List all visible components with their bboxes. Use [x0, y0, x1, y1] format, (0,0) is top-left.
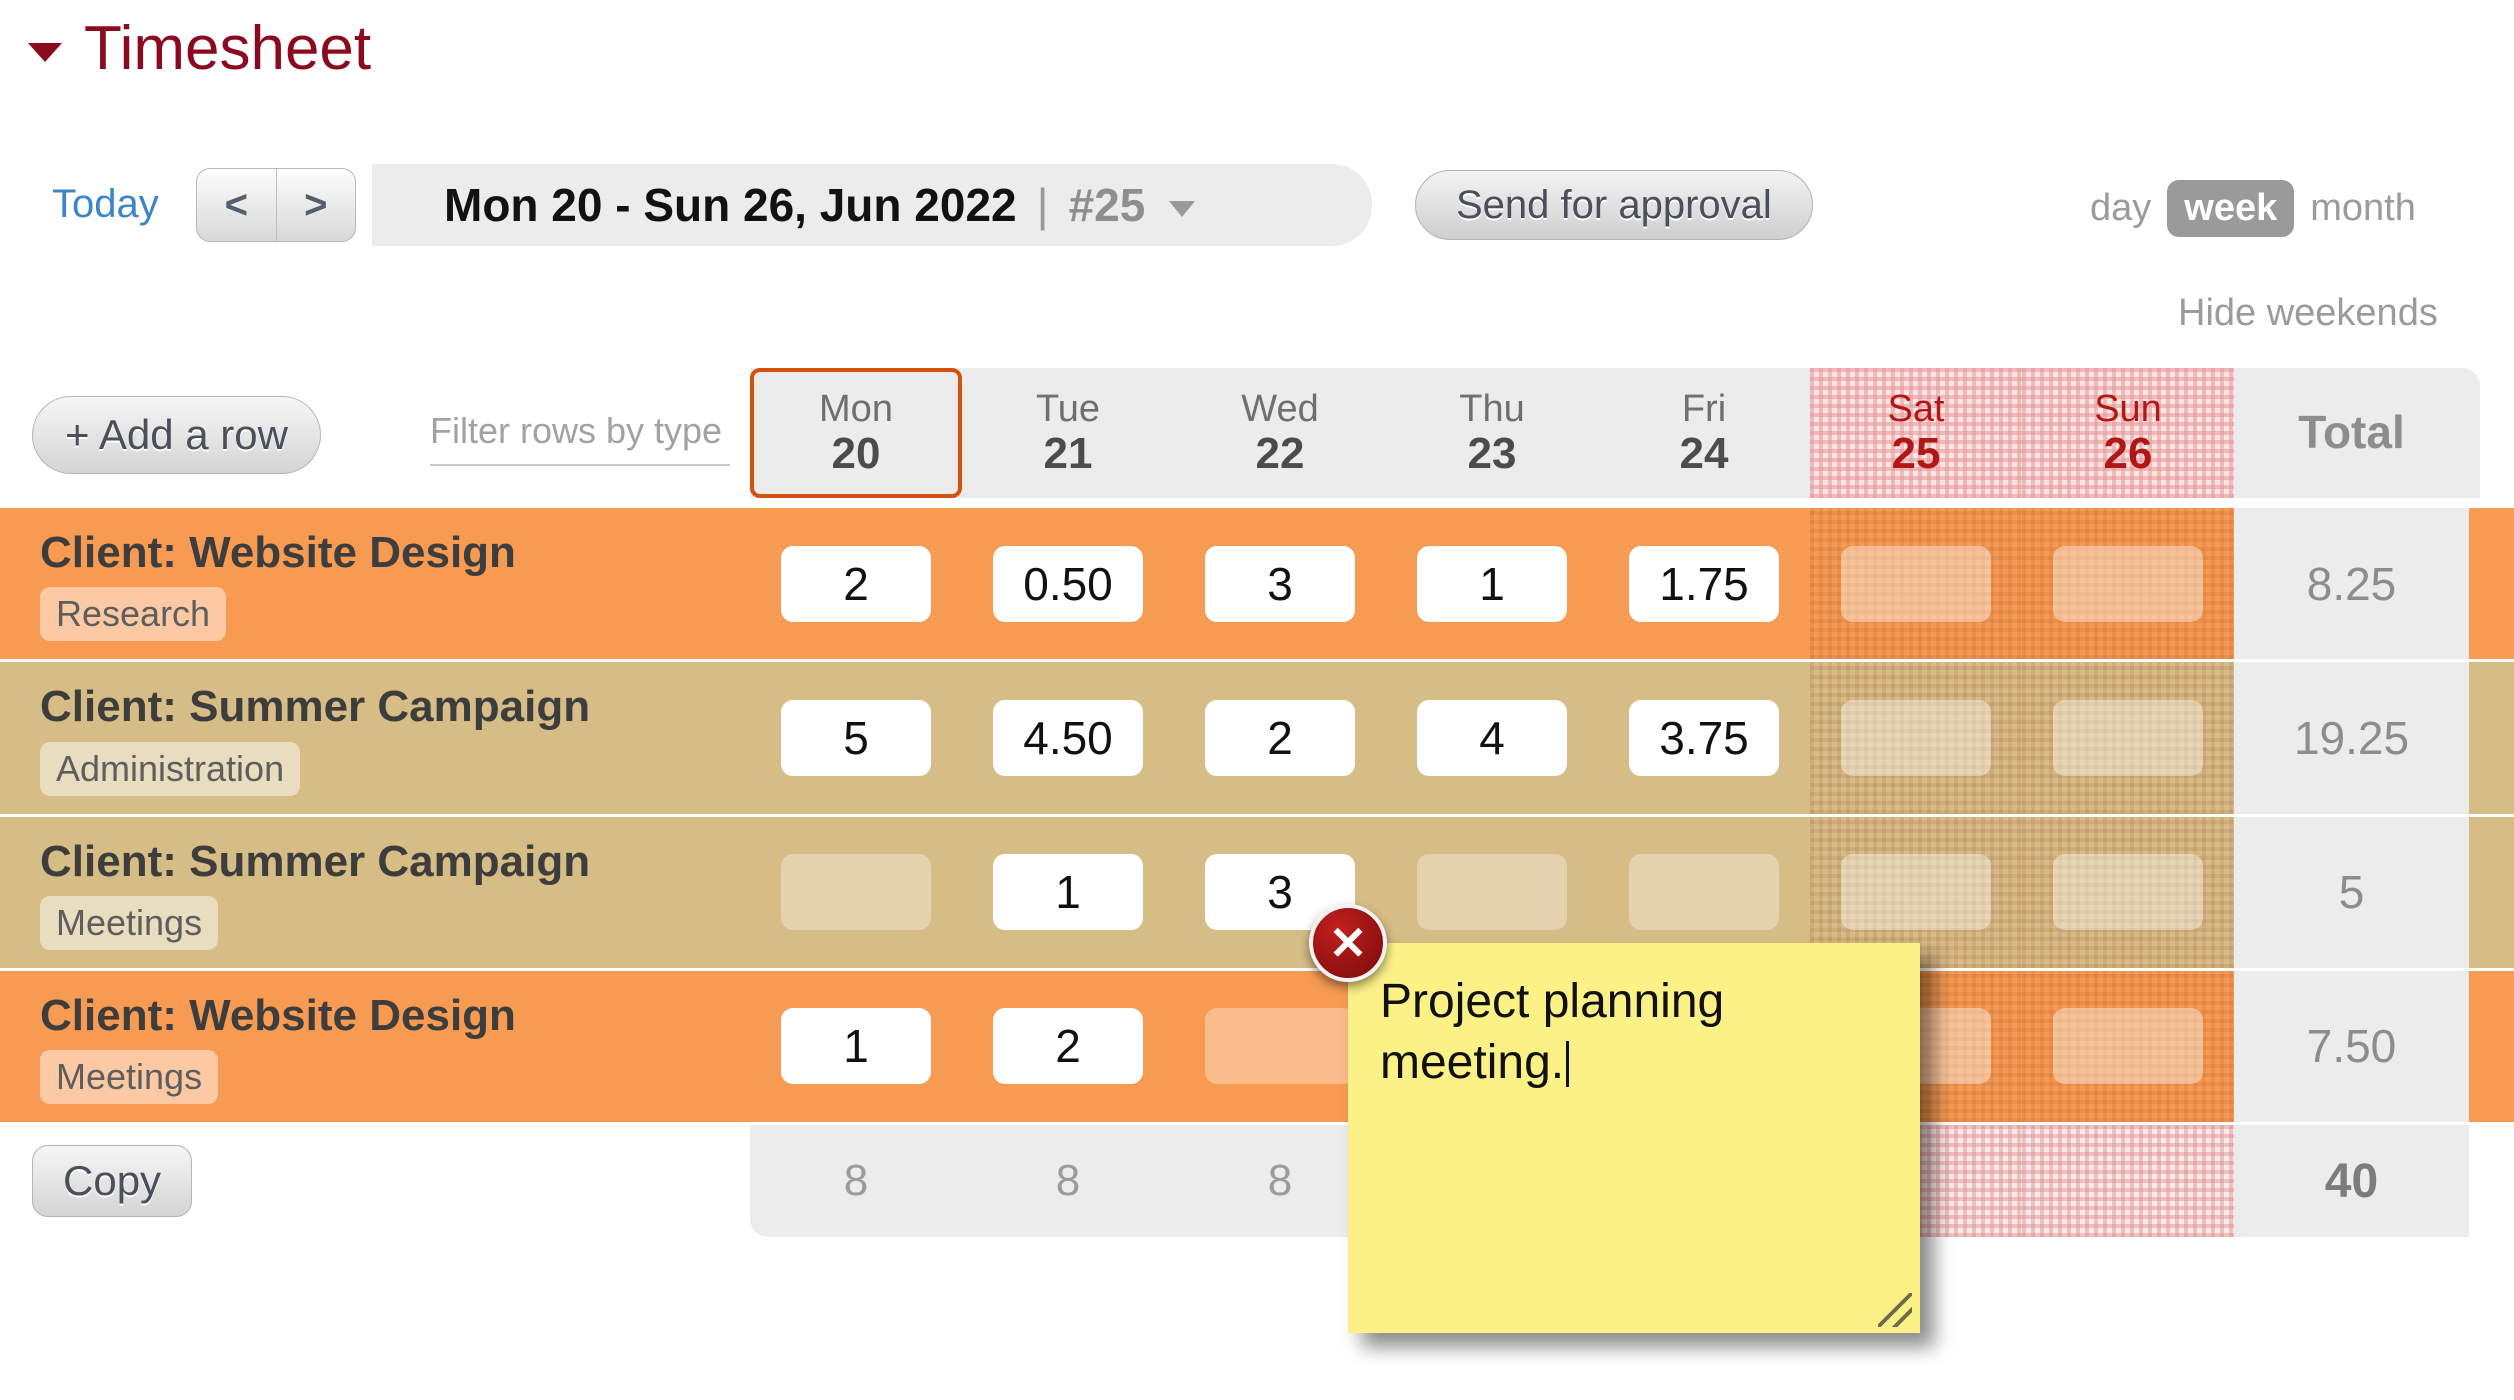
view-mode-week[interactable]: week: [2167, 180, 2294, 237]
hours-input[interactable]: 4.50: [993, 700, 1143, 776]
cell-mon[interactable]: 2: [750, 508, 962, 659]
cell-mon[interactable]: 1: [750, 971, 962, 1122]
cell-sun[interactable]: [2022, 662, 2234, 813]
day-column-header-fri[interactable]: Fri 24: [1598, 368, 1810, 498]
view-mode-day[interactable]: day: [2090, 187, 2151, 230]
day-column-header-sun[interactable]: Sun 26: [2022, 368, 2234, 498]
cell-fri[interactable]: 3.75: [1598, 662, 1810, 813]
cell-fri[interactable]: 1.75: [1598, 508, 1810, 659]
hours-input[interactable]: [2053, 1008, 2203, 1084]
day-date: 24: [1680, 430, 1729, 478]
note-text-value: Project planning meeting.: [1380, 975, 1738, 1089]
grid-header: + Add a row Mon 20 Tue 21 Wed 22 Th: [0, 368, 2514, 508]
day-name: Mon: [819, 389, 893, 430]
day-date: 21: [1044, 430, 1093, 478]
day-name: Wed: [1241, 389, 1318, 430]
copy-button[interactable]: Copy: [32, 1145, 192, 1217]
day-column-header-wed[interactable]: Wed 22: [1174, 368, 1386, 498]
prev-week-button[interactable]: <: [197, 169, 277, 241]
chevron-down-icon[interactable]: [1169, 201, 1195, 217]
day-date: 23: [1468, 430, 1517, 478]
close-icon[interactable]: ✕: [1309, 904, 1387, 982]
row-label[interactable]: Client: Website Design Meetings: [0, 971, 750, 1122]
cell-mon[interactable]: 5: [750, 662, 962, 813]
text-cursor: [1566, 1041, 1569, 1087]
row-cells: 5 4.50 2 4 3.75: [750, 662, 2234, 813]
cell-tue[interactable]: 4.50: [962, 662, 1174, 813]
week-nav-group: < >: [196, 168, 356, 242]
cell-tue[interactable]: 0.50: [962, 508, 1174, 659]
hours-input[interactable]: 2: [993, 1008, 1143, 1084]
row-label[interactable]: Client: Summer Campaign Administration: [0, 662, 750, 813]
day-column-header-mon[interactable]: Mon 20: [750, 368, 962, 498]
row-title: Client: Summer Campaign: [40, 837, 680, 886]
total-label: Total: [2298, 408, 2404, 458]
filter-rows-input[interactable]: [430, 410, 730, 466]
cell-thu[interactable]: 4: [1386, 662, 1598, 813]
day-column-header-sat[interactable]: Sat 25: [1810, 368, 2022, 498]
hours-input[interactable]: 5: [781, 700, 931, 776]
day-name: Sun: [2094, 389, 2162, 430]
cell-sun[interactable]: [2022, 508, 2234, 659]
row-title: Client: Summer Campaign: [40, 682, 680, 731]
hours-input[interactable]: 2: [781, 546, 931, 622]
row-total: 19.25: [2234, 662, 2469, 813]
cell-wed[interactable]: 2: [1174, 662, 1386, 813]
today-button[interactable]: Today: [52, 182, 159, 227]
day-total-tue: 8: [962, 1125, 1174, 1237]
date-range-label: Mon 20 - Sun 26, Jun 2022: [444, 178, 1017, 232]
table-row: Client: Summer Campaign Meetings 1 3 5: [0, 817, 2514, 971]
hours-input[interactable]: 1: [993, 854, 1143, 930]
sticky-note[interactable]: ✕ Project planning meeting.: [1348, 943, 1920, 1333]
day-name: Fri: [1682, 389, 1726, 430]
day-date: 25: [1892, 430, 1941, 478]
hours-input[interactable]: [1841, 546, 1991, 622]
page-title: Timesheet: [84, 18, 371, 80]
cell-thu[interactable]: 1: [1386, 508, 1598, 659]
toolbar: Today < > Mon 20 - Sun 26, Jun 2022 | #2…: [0, 160, 2514, 250]
row-label[interactable]: Client: Summer Campaign Meetings: [0, 817, 750, 968]
date-range-selector[interactable]: Mon 20 - Sun 26, Jun 2022 | #25: [372, 164, 1372, 246]
day-header-strip: Mon 20 Tue 21 Wed 22 Thu 23 Fri 24: [750, 368, 2480, 498]
hours-input[interactable]: 3: [1205, 546, 1355, 622]
send-for-approval-button[interactable]: Send for approval: [1415, 170, 1813, 240]
view-mode-toggle: day week month: [2090, 180, 2416, 237]
footer-label: Copy: [0, 1125, 750, 1237]
row-tag: Meetings: [40, 896, 218, 950]
page-title-row: Timesheet: [28, 18, 371, 80]
total-column-header: Total: [2234, 368, 2469, 498]
next-week-button[interactable]: >: [277, 169, 356, 241]
day-date: 26: [2104, 430, 2153, 478]
day-name: Thu: [1459, 389, 1524, 430]
day-date: 22: [1256, 430, 1305, 478]
table-row: Client: Website Design Research 2 0.50 3…: [0, 508, 2514, 662]
day-column-header-tue[interactable]: Tue 21: [962, 368, 1174, 498]
grand-total: 40: [2234, 1125, 2469, 1237]
grid-footer: Copy 8 8 8 40: [0, 1125, 2514, 1237]
cell-tue[interactable]: 1: [962, 817, 1174, 968]
week-number-label: #25: [1069, 178, 1146, 232]
hours-input[interactable]: [2053, 854, 2203, 930]
cell-sat[interactable]: [1810, 662, 2022, 813]
row-cells: 2 0.50 3 1 1.75: [750, 508, 2234, 659]
hours-input[interactable]: 4: [1417, 700, 1567, 776]
row-total: 7.50: [2234, 971, 2469, 1122]
row-title: Client: Website Design: [40, 991, 680, 1040]
view-mode-month[interactable]: month: [2310, 187, 2416, 230]
day-total-mon: 8: [750, 1125, 962, 1237]
row-total: 5: [2234, 817, 2469, 968]
hours-input[interactable]: [2053, 700, 2203, 776]
hours-input[interactable]: 3.75: [1629, 700, 1779, 776]
hours-input[interactable]: [1417, 854, 1567, 930]
cell-wed[interactable]: 3: [1174, 508, 1386, 659]
row-tag: Research: [40, 587, 226, 641]
date-range-separator: |: [1037, 178, 1049, 232]
hours-input[interactable]: 1: [1417, 546, 1567, 622]
row-total: 8.25: [2234, 508, 2469, 659]
row-tag: Administration: [40, 742, 300, 796]
hours-input[interactable]: 0.50: [993, 546, 1143, 622]
resize-handle-icon[interactable]: [1878, 1293, 1912, 1327]
timesheet-grid: + Add a row Mon 20 Tue 21 Wed 22 Th: [0, 368, 2514, 1237]
hide-weekends-button[interactable]: Hide weekends: [2178, 292, 2438, 335]
day-name: Tue: [1036, 389, 1100, 430]
day-name: Sat: [1887, 389, 1944, 430]
add-row-button[interactable]: + Add a row: [32, 396, 321, 474]
row-title: Client: Website Design: [40, 528, 680, 577]
cell-sat[interactable]: [1810, 508, 2022, 659]
day-total-sun: [2022, 1125, 2234, 1237]
cell-sun[interactable]: [2022, 817, 2234, 968]
timesheet-page: Timesheet Today < > Mon 20 - Sun 26, Jun…: [0, 0, 2514, 1400]
row-tag: Meetings: [40, 1050, 218, 1104]
hours-input[interactable]: 1.75: [1629, 546, 1779, 622]
hours-input[interactable]: [1629, 854, 1779, 930]
day-column-header-thu[interactable]: Thu 23: [1386, 368, 1598, 498]
hours-input[interactable]: [1205, 1008, 1355, 1084]
cell-sun[interactable]: [2022, 971, 2234, 1122]
table-row: Client: Summer Campaign Administration 5…: [0, 662, 2514, 816]
hours-input[interactable]: 2: [1205, 700, 1355, 776]
hours-input[interactable]: [1841, 700, 1991, 776]
note-textarea[interactable]: Project planning meeting.: [1348, 943, 1920, 1094]
filter-rows-wrapper: [430, 410, 730, 466]
row-label[interactable]: Client: Website Design Research: [0, 508, 750, 659]
day-date: 20: [832, 430, 881, 478]
hours-input[interactable]: [781, 854, 931, 930]
collapse-caret-icon[interactable]: [28, 43, 62, 62]
hours-input[interactable]: [1841, 854, 1991, 930]
cell-mon[interactable]: [750, 817, 962, 968]
cell-tue[interactable]: 2: [962, 971, 1174, 1122]
table-row: Client: Website Design Meetings 1 2 7.50: [0, 971, 2514, 1125]
hours-input[interactable]: 1: [781, 1008, 931, 1084]
hours-input[interactable]: [2053, 546, 2203, 622]
